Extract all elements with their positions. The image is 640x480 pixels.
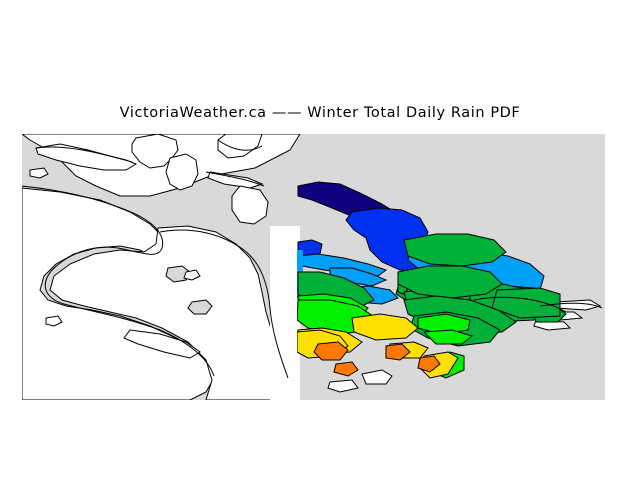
weather-map-page: VictoriaWeather.ca —— Winter Total Daily… (0, 0, 640, 480)
colorbar: 25.027.029.031.033.035.037.039.041.0 99t… (0, 415, 640, 480)
land-fill-to-data-edge (270, 226, 300, 400)
map-svg (0, 0, 640, 415)
map-canvas (0, 0, 640, 415)
land-central-island-b (166, 154, 198, 190)
